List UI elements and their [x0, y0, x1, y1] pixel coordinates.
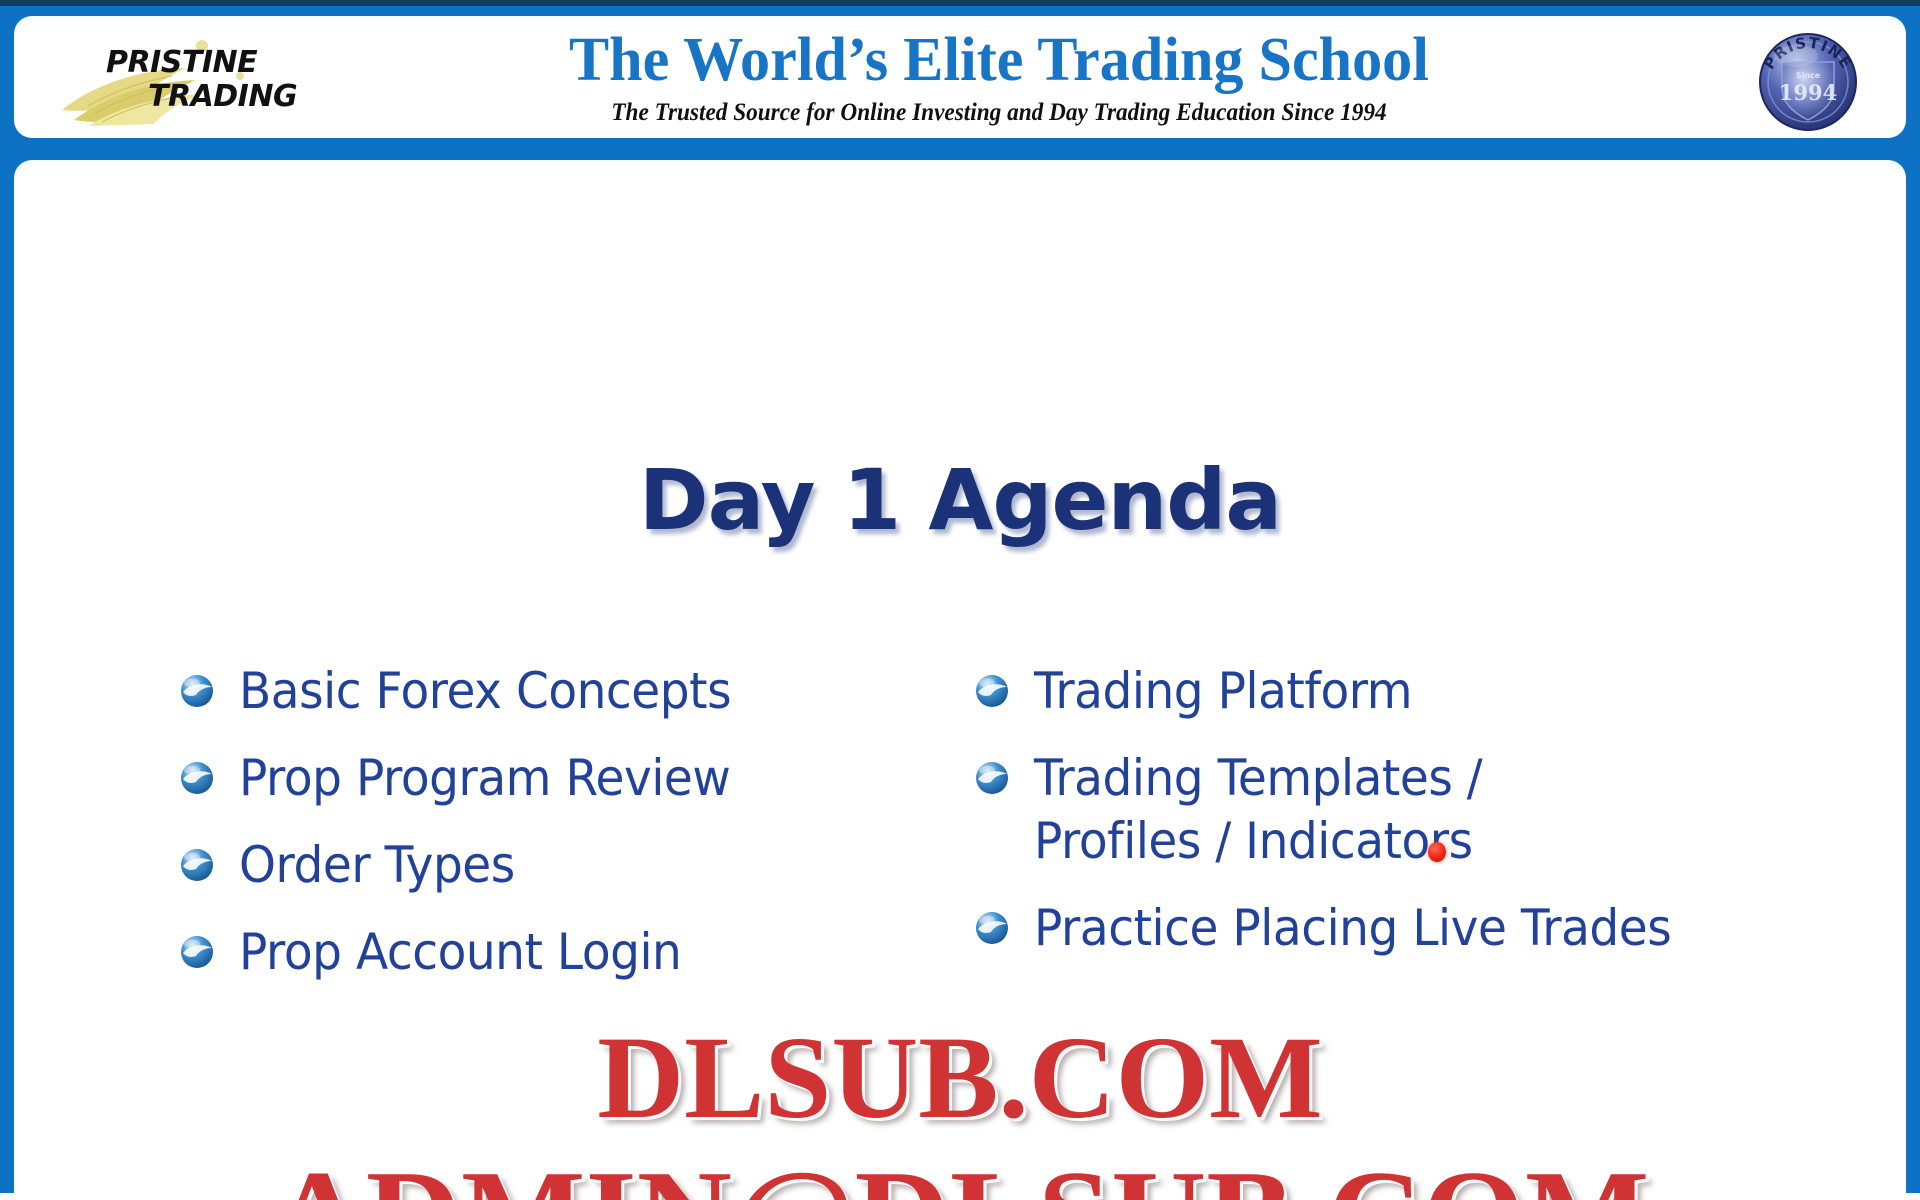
presentation-slide: PRISTINE TRADING The World’s Elite Tradi… [0, 0, 1920, 1193]
header-title: The World’s Elite Trading School [364, 24, 1635, 96]
header-subtitle: The Trusted Source for Online Investing … [390, 98, 1608, 128]
header-title-block: The World’s Elite Trading School The Tru… [344, 24, 1654, 128]
agenda-item-label: Prop Account Login [239, 921, 681, 984]
red-laser-pointer-dot [1428, 842, 1446, 862]
blue-globe-bullet-icon [179, 847, 215, 883]
agenda-item-label: Trading Templates / Profiles / Indicator… [1034, 747, 1482, 873]
svg-text:1994: 1994 [1779, 80, 1837, 105]
header-panel: PRISTINE TRADING The World’s Elite Tradi… [14, 16, 1906, 138]
blue-globe-bullet-icon [179, 934, 215, 970]
agenda-columns: Basic Forex Concepts Prop Program Review [14, 660, 1906, 960]
agenda-item-label: Order Types [239, 834, 515, 897]
pristine-since-1994-seal-icon: Since 1994 PRISTINE [1752, 26, 1864, 138]
watermark-email: ADMIN@DLSUB.COM [14, 1145, 1906, 1200]
agenda-item-label: Practice Placing Live Trades [1034, 897, 1671, 960]
list-item: Order Types [179, 834, 879, 897]
watermark-site: DLSUB.COM [14, 1015, 1906, 1141]
blue-globe-bullet-icon [974, 673, 1010, 709]
list-item: Prop Program Review [179, 747, 879, 810]
agenda-item-label: Prop Program Review [239, 747, 730, 810]
svg-text:PRISTINE: PRISTINE [106, 45, 258, 80]
pristine-trading-logo: PRISTINE TRADING [54, 32, 324, 128]
list-item: Prop Account Login [179, 921, 879, 984]
list-item: Trading Templates / Profiles / Indicator… [974, 747, 1804, 873]
list-item: Basic Forex Concepts [179, 660, 879, 723]
list-item: Trading Platform [974, 660, 1804, 723]
list-item: Practice Placing Live Trades [974, 897, 1804, 960]
slide-body-panel: Day 1 Agenda [14, 160, 1906, 1200]
agenda-item-label: Trading Platform [1034, 660, 1412, 723]
agenda-item-label: Basic Forex Concepts [239, 660, 731, 723]
blue-globe-bullet-icon [974, 910, 1010, 946]
svg-text:TRADING: TRADING [148, 79, 297, 114]
page-title: Day 1 Agenda [14, 452, 1906, 548]
agenda-right-column: Trading Platform Trading Templates / Pro… [974, 660, 1804, 984]
blue-globe-bullet-icon [179, 673, 215, 709]
blue-globe-bullet-icon [179, 760, 215, 796]
svg-text:Since: Since [1796, 71, 1821, 80]
agenda-left-column: Basic Forex Concepts Prop Program Review [179, 660, 879, 1008]
blue-globe-bullet-icon [974, 760, 1010, 796]
